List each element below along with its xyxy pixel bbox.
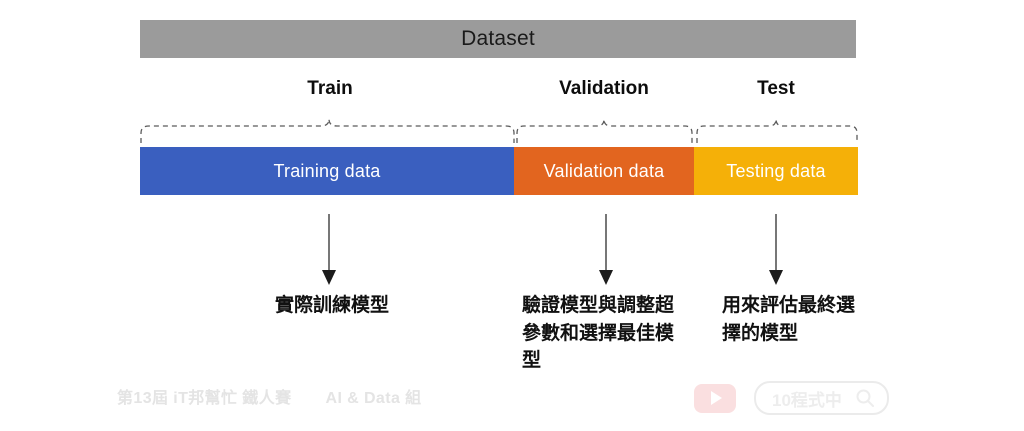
play-triangle-icon (711, 391, 722, 405)
data-bar: Training data Validation data Testing da… (140, 147, 858, 195)
brace-test (697, 119, 857, 143)
watermark-left: 第13屆 iT邦幫忙 鐵人賽 AI & Data 組 (117, 384, 422, 408)
caption-test: 用來評估最終選擇的模型 (722, 292, 872, 347)
split-label-validation: Validation (504, 78, 704, 100)
channel-search-pill: 10程式中 (754, 381, 889, 415)
diagram-canvas: Dataset Train Validation Test Training d… (0, 0, 1024, 431)
watermark-ithome-text: 第13屆 iT邦幫忙 鐵人賽 (117, 384, 292, 408)
brace-validation (517, 119, 692, 143)
watermark-right: 10程式中 (694, 381, 889, 415)
data-segment-test-label: Testing data (726, 161, 825, 182)
dataset-bar: Dataset (140, 20, 856, 58)
caption-train: 實際訓練模型 (234, 292, 430, 320)
brace-group (0, 0, 1024, 431)
data-segment-train[interactable]: Training data (140, 147, 514, 195)
arrow-down-icon-test-head (769, 270, 783, 285)
split-label-train: Train (200, 78, 460, 100)
arrow-down-icon-validation-head (599, 270, 613, 285)
arrow-group (0, 0, 1024, 431)
watermark-group-text: AI & Data 組 (326, 384, 422, 408)
data-segment-test[interactable]: Testing data (694, 147, 858, 195)
data-segment-validation-label: Validation data (544, 161, 665, 182)
data-segment-validation[interactable]: Validation data (514, 147, 694, 195)
arrow-down-icon-train-head (322, 270, 336, 285)
search-icon (855, 388, 875, 408)
brace-train (141, 119, 514, 143)
split-label-test: Test (696, 78, 856, 100)
caption-validation: 驗證模型與調整超參數和選擇最佳模型 (522, 292, 688, 375)
data-segment-train-label: Training data (274, 161, 381, 182)
channel-name-text: 10程式中 (772, 386, 842, 411)
youtube-play-icon (694, 384, 736, 413)
dataset-bar-label: Dataset (461, 27, 535, 51)
